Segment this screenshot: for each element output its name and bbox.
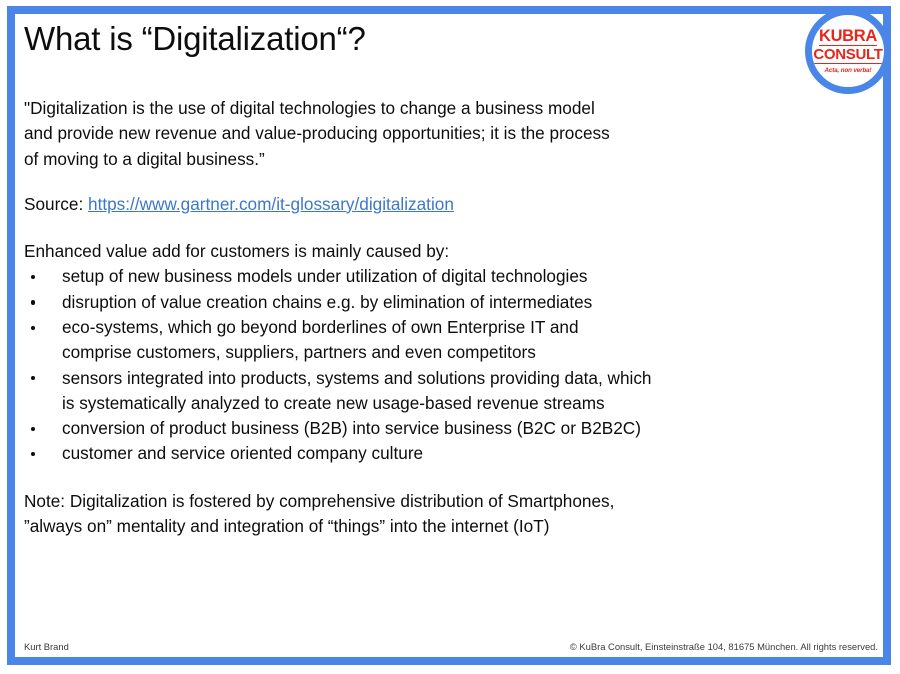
logo-text-kubra: KUBRA bbox=[819, 28, 877, 46]
list-item-line: customer and service oriented company cu… bbox=[62, 441, 880, 466]
source-label: Source: bbox=[24, 194, 83, 214]
page-title: What is “Digitalization“? bbox=[24, 20, 366, 58]
list-item-line: setup of new business models under utili… bbox=[62, 264, 880, 289]
list-item-line: disruption of value creation chains e.g.… bbox=[62, 290, 880, 315]
kubra-consult-logo: KUBRA CONSULT Acta, non verba! bbox=[805, 8, 891, 94]
benefits-bullet-list: setup of new business models under utili… bbox=[24, 264, 880, 466]
section-intro: Enhanced value add for customers is main… bbox=[24, 239, 880, 264]
list-item: customer and service oriented company cu… bbox=[24, 441, 880, 466]
slide-body: "Digitalization is the use of digital te… bbox=[24, 96, 880, 539]
bullet-dot-icon bbox=[31, 427, 35, 431]
list-item: sensors integrated into products, system… bbox=[24, 366, 880, 417]
spacer bbox=[24, 467, 880, 489]
list-item-line: eco-systems, which go beyond borderlines… bbox=[62, 315, 880, 340]
gartner-quote: "Digitalization is the use of digital te… bbox=[24, 96, 880, 172]
slide: KUBRA CONSULT Acta, non verba! What is “… bbox=[0, 0, 900, 674]
footer-copyright: © KuBra Consult, Einsteinstraße 104, 816… bbox=[570, 641, 878, 652]
bullet-dot-icon bbox=[31, 376, 35, 380]
quote-line: of moving to a digital business.” bbox=[24, 147, 880, 172]
logo-text-consult: CONSULT bbox=[813, 47, 882, 63]
quote-line: "Digitalization is the use of digital te… bbox=[24, 96, 880, 121]
list-item: eco-systems, which go beyond borderlines… bbox=[24, 315, 880, 366]
spacer bbox=[24, 172, 880, 192]
source-link[interactable]: https://www.gartner.com/it-glossary/digi… bbox=[88, 194, 454, 214]
spacer bbox=[24, 217, 880, 239]
list-item-line: conversion of product business (B2B) int… bbox=[62, 416, 880, 441]
slide-footer: Kurt Brand © KuBra Consult, Einsteinstra… bbox=[24, 641, 878, 652]
source-line: Source: https://www.gartner.com/it-gloss… bbox=[24, 192, 880, 217]
bullet-dot-icon bbox=[31, 452, 35, 456]
list-item: setup of new business models under utili… bbox=[24, 264, 880, 289]
note-block: Note: Digitalization is fostered by comp… bbox=[24, 489, 880, 540]
bullet-dot-icon bbox=[31, 326, 35, 330]
footer-author: Kurt Brand bbox=[24, 641, 69, 652]
note-line: Note: Digitalization is fostered by comp… bbox=[24, 489, 880, 514]
list-item: conversion of product business (B2B) int… bbox=[24, 416, 880, 441]
note-line: ”always on” mentality and integration of… bbox=[24, 514, 880, 539]
list-item-line: is systematically analyzed to create new… bbox=[62, 391, 880, 416]
list-item-line: comprise customers, suppliers, partners … bbox=[62, 340, 880, 365]
bullet-dot-icon bbox=[31, 300, 35, 304]
list-item-line: sensors integrated into products, system… bbox=[62, 366, 880, 391]
list-item: disruption of value creation chains e.g.… bbox=[24, 290, 880, 315]
logo-tagline: Acta, non verba! bbox=[825, 67, 872, 74]
quote-line: and provide new revenue and value-produc… bbox=[24, 121, 880, 146]
bullet-dot-icon bbox=[31, 275, 35, 279]
